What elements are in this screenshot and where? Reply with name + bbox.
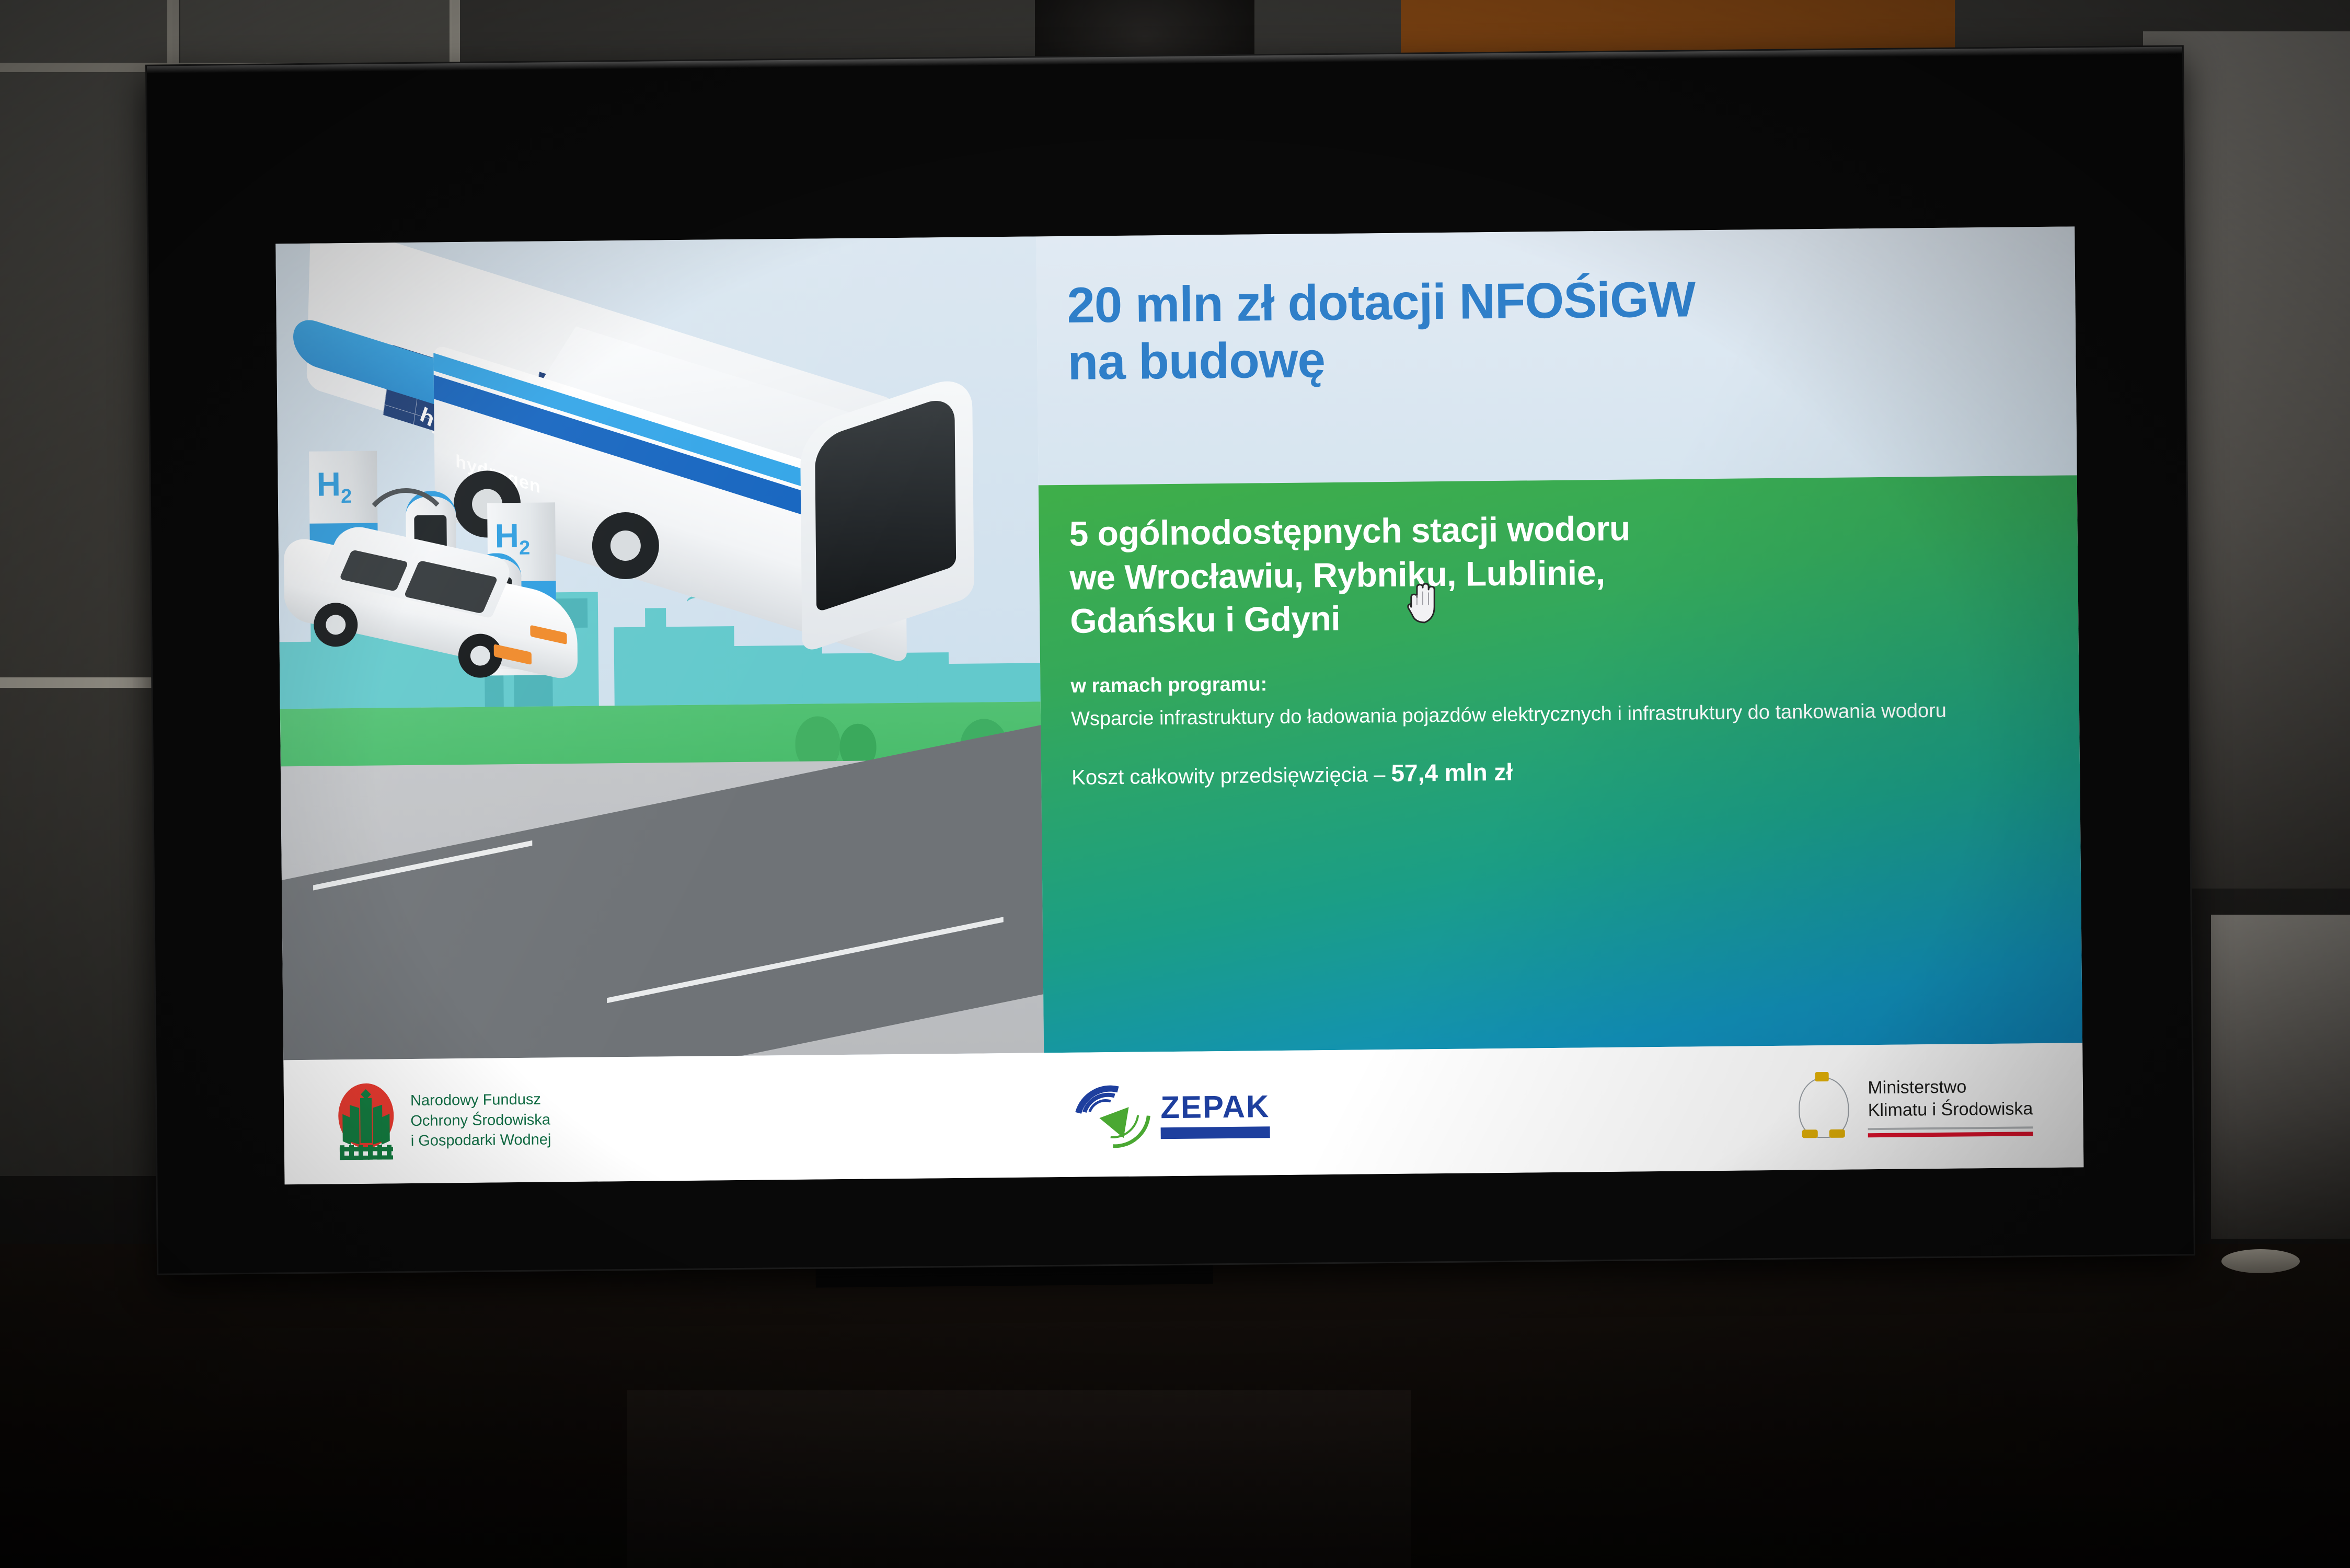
subheadline-line3: Gdańsku i Gdyni: [1070, 599, 1341, 640]
headline-amount: 20 mln zł: [1067, 275, 1274, 333]
presentation-slide[interactable]: hydrogen station hydrogen: [275, 226, 2083, 1184]
foreground-equipment: [627, 1390, 1411, 1568]
zepak-swirl-icon: [1073, 1080, 1151, 1148]
window-pane-left: [0, 0, 172, 1176]
chair: [2070, 1369, 2342, 1568]
ministry-rules: [1868, 1126, 2033, 1137]
ministry-line1: Ministerstwo: [1868, 1075, 2033, 1099]
car-wheel: [314, 603, 358, 647]
headline-rest: dotacji NFOŚiGW: [1274, 271, 1695, 331]
subheadline-line1: 5 ogólnodostępnych stacji wodoru: [1069, 509, 1630, 553]
headline-line2: na budowę: [1067, 332, 1325, 391]
program-body: Wsparcie infrastruktury do ładowania poj…: [1071, 697, 2032, 733]
nfosigw-line2: Ochrony Środowiska: [410, 1110, 551, 1131]
monitor: hydrogen station hydrogen: [147, 47, 2194, 1273]
zepak-text: ZEPAK: [1160, 1089, 1270, 1125]
polish-eagle-icon: [1791, 1070, 1854, 1144]
zepak-underbar: [1161, 1126, 1270, 1139]
page-title: 20 mln zł dotacji NFOŚiGW na budowę: [1067, 268, 2024, 391]
open-hand-cursor: [1403, 578, 1442, 627]
zepak-wordmark: ZEPAK: [1160, 1088, 1270, 1139]
subheadline-line2: we Wrocławiu, Rybniku, Lublinie,: [1069, 553, 1605, 597]
h2-label: H2: [316, 465, 352, 508]
program-label: w ramach programu:: [1070, 666, 2032, 698]
details-panel: 5 ogólnodostępnych stacji wodoru we Wroc…: [1039, 476, 2082, 1053]
cost-prefix: Koszt całkowity przedsięwzięcia –: [1072, 763, 1391, 789]
cost-value: 57,4 mln zł: [1391, 758, 1513, 787]
headline-panel: 20 mln zł dotacji NFOŚiGW na budowę: [1036, 226, 2077, 485]
ministry-wordmark: Ministerstwo Klimatu i Środowiska: [1868, 1075, 2033, 1137]
hydrogen-station-illustration: hydrogen station hydrogen: [275, 236, 1044, 1060]
nfosigw-wordmark: Narodowy Fundusz Ochrony Środowiska i Go…: [410, 1089, 551, 1151]
slide-body: hydrogen station hydrogen: [275, 226, 2082, 1060]
logo-zepak: ZEPAK: [1073, 1079, 1270, 1149]
logo-ministry: Ministerstwo Klimatu i Środowiska: [1791, 1069, 2033, 1144]
slide-footer: Narodowy Fundusz Ochrony Środowiska i Go…: [283, 1043, 2083, 1184]
nfosigw-emblem-icon: [334, 1083, 398, 1160]
total-cost: Koszt całkowity przedsięwzięcia – 57,4 m…: [1072, 753, 2033, 790]
nfosigw-line3: i Gospodarki Wodnej: [411, 1130, 551, 1151]
ministry-line2: Klimatu i Środowiska: [1868, 1098, 2033, 1122]
window-pane-far-right-lower: [2211, 915, 2350, 1239]
subheadline: 5 ogólnodostępnych stacji wodoru we Wroc…: [1069, 503, 2031, 643]
cup-on-sill: [2221, 1249, 2300, 1273]
hydrogen-car: [284, 533, 620, 693]
nfosigw-line1: Narodowy Fundusz: [410, 1089, 551, 1111]
logo-nfosigw: Narodowy Fundusz Ochrony Środowiska i Go…: [334, 1081, 551, 1160]
slide-text-column: 20 mln zł dotacji NFOŚiGW na budowę 5 og…: [1036, 226, 2082, 1053]
